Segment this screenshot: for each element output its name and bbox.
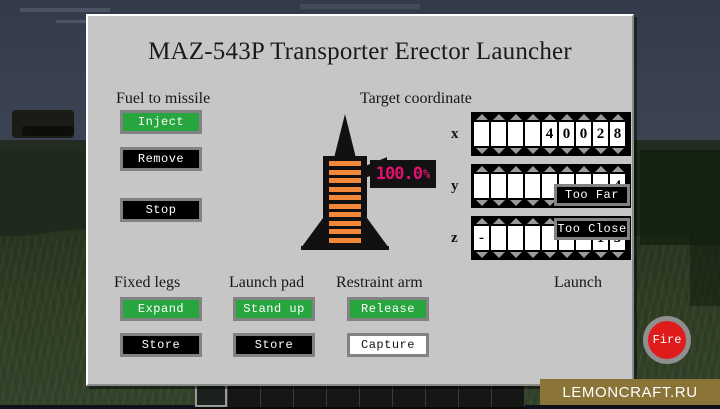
coordinate-cell[interactable] bbox=[524, 114, 541, 154]
increment-arrow-up-icon[interactable] bbox=[527, 166, 539, 172]
increment-arrow-up-icon[interactable] bbox=[595, 114, 607, 120]
hotbar-slot[interactable] bbox=[195, 384, 228, 407]
launch-pad-section-label: Launch pad bbox=[229, 274, 304, 292]
tree-silhouette bbox=[690, 236, 720, 306]
coordinate-cell[interactable] bbox=[507, 166, 524, 206]
increment-arrow-up-icon[interactable] bbox=[578, 114, 590, 120]
fuel-percent-readout: 100.0 % bbox=[370, 160, 436, 188]
axis-label-z: z bbox=[451, 230, 458, 247]
fuel-bar bbox=[329, 229, 361, 234]
increment-arrow-up-icon[interactable] bbox=[476, 166, 488, 172]
increment-arrow-up-icon[interactable] bbox=[510, 114, 522, 120]
decrement-arrow-down-icon[interactable] bbox=[561, 148, 573, 154]
missile-fin-right bbox=[367, 218, 389, 248]
coordinate-digit[interactable]: - bbox=[474, 226, 489, 250]
hotbar-slot[interactable] bbox=[261, 384, 294, 407]
fuel-bar bbox=[329, 187, 361, 192]
hotbar-slot[interactable] bbox=[393, 384, 426, 407]
legs-store-button[interactable]: Store bbox=[120, 333, 202, 357]
fuel-percent-value: 100.0 bbox=[376, 164, 422, 184]
coordinate-digit[interactable]: 8 bbox=[610, 122, 625, 146]
too-far-button[interactable]: Too Far bbox=[554, 184, 630, 206]
increment-arrow-up-icon[interactable] bbox=[612, 166, 624, 172]
decrement-arrow-down-icon[interactable] bbox=[595, 252, 607, 258]
hotbar-slot[interactable] bbox=[360, 384, 393, 407]
decrement-arrow-down-icon[interactable] bbox=[544, 148, 556, 154]
fixed-legs-section-label: Fixed legs bbox=[114, 274, 180, 292]
coordinate-digit[interactable] bbox=[525, 174, 540, 198]
coordinate-cell[interactable] bbox=[473, 114, 490, 154]
launch-section-label: Launch bbox=[554, 274, 602, 292]
decrement-arrow-down-icon[interactable] bbox=[527, 148, 539, 154]
increment-arrow-up-icon[interactable] bbox=[527, 114, 539, 120]
remove-fuel-button[interactable]: Remove bbox=[120, 147, 202, 171]
tree-silhouette bbox=[640, 150, 720, 245]
fuel-bar bbox=[329, 238, 361, 243]
cloud bbox=[300, 4, 420, 9]
launcher-control-panel: MAZ-543P Transporter Erector Launcher Fu… bbox=[86, 14, 634, 386]
coordinate-cell[interactable] bbox=[507, 114, 524, 154]
fuel-section-label: Fuel to missile bbox=[116, 90, 210, 108]
increment-arrow-up-icon[interactable] bbox=[561, 166, 573, 172]
hotbar-slot[interactable] bbox=[327, 384, 360, 407]
coordinate-cell[interactable]: 8 bbox=[609, 114, 626, 154]
coordinate-digit[interactable] bbox=[525, 226, 540, 250]
fire-button[interactable]: Fire bbox=[643, 316, 691, 364]
coordinate-digit[interactable] bbox=[525, 122, 540, 146]
dark-structure-shadow bbox=[22, 126, 74, 136]
too-close-button[interactable]: Too Close bbox=[554, 218, 630, 240]
missile-base bbox=[301, 246, 389, 250]
increment-arrow-up-icon[interactable] bbox=[578, 166, 590, 172]
hotbar-slot[interactable] bbox=[294, 384, 327, 407]
coordinate-digit[interactable] bbox=[491, 226, 506, 250]
hotbar-slot[interactable] bbox=[492, 384, 525, 407]
fuel-bar bbox=[329, 178, 361, 183]
axis-label-y: y bbox=[451, 178, 459, 195]
percent-symbol: % bbox=[423, 167, 430, 181]
coordinate-cell[interactable] bbox=[490, 166, 507, 206]
coordinate-cell[interactable]: 0 bbox=[575, 114, 592, 154]
arm-release-button[interactable]: Release bbox=[347, 297, 429, 321]
coordinate-cell[interactable]: 2 bbox=[592, 114, 609, 154]
hotbar-slot[interactable] bbox=[459, 384, 492, 407]
decrement-arrow-down-icon[interactable] bbox=[476, 200, 488, 206]
legs-expand-button[interactable]: Expand bbox=[120, 297, 202, 321]
decrement-arrow-down-icon[interactable] bbox=[476, 252, 488, 258]
coordinate-cell[interactable] bbox=[473, 166, 490, 206]
hotbar-slot[interactable] bbox=[426, 384, 459, 407]
decrement-arrow-down-icon[interactable] bbox=[510, 252, 522, 258]
site-watermark: LEMONCRAFT.RU bbox=[540, 379, 720, 405]
decrement-arrow-down-icon[interactable] bbox=[510, 148, 522, 154]
coordinate-cell[interactable] bbox=[524, 166, 541, 206]
page-title: MAZ-543P Transporter Erector Launcher bbox=[88, 38, 632, 66]
coordinate-cell[interactable]: - bbox=[473, 218, 490, 258]
arm-capture-button[interactable]: Capture bbox=[347, 333, 429, 357]
increment-arrow-up-icon[interactable] bbox=[612, 114, 624, 120]
fuel-bar bbox=[329, 195, 361, 200]
increment-arrow-up-icon[interactable] bbox=[544, 166, 556, 172]
axis-label-x: x bbox=[451, 126, 459, 143]
coordinate-cell[interactable] bbox=[507, 218, 524, 258]
increment-arrow-up-icon[interactable] bbox=[510, 166, 522, 172]
coordinate-digit[interactable]: 0 bbox=[576, 122, 591, 146]
fuel-level-bars bbox=[329, 161, 361, 243]
coordinate-digit[interactable]: 4 bbox=[542, 122, 557, 146]
stop-fuel-button[interactable]: Stop bbox=[120, 198, 202, 222]
increment-arrow-up-icon[interactable] bbox=[493, 218, 505, 224]
coordinate-digit[interactable] bbox=[508, 122, 523, 146]
decrement-arrow-down-icon[interactable] bbox=[527, 200, 539, 206]
missile-body bbox=[323, 156, 367, 248]
cloud bbox=[20, 8, 110, 12]
coordinate-row-x: 40028 bbox=[471, 112, 631, 156]
missile-fin-left bbox=[301, 218, 323, 248]
decrement-arrow-down-icon[interactable] bbox=[595, 148, 607, 154]
missile-nose-cone bbox=[334, 114, 356, 158]
increment-arrow-up-icon[interactable] bbox=[527, 218, 539, 224]
decrement-arrow-down-icon[interactable] bbox=[493, 252, 505, 258]
fuel-bar bbox=[329, 221, 361, 226]
coordinate-digit[interactable] bbox=[474, 174, 489, 198]
coordinate-digit[interactable] bbox=[491, 122, 506, 146]
increment-arrow-up-icon[interactable] bbox=[544, 114, 556, 120]
increment-arrow-up-icon[interactable] bbox=[476, 114, 488, 120]
fuel-bar bbox=[329, 204, 361, 209]
fuel-bar bbox=[329, 161, 361, 166]
decrement-arrow-down-icon[interactable] bbox=[612, 252, 624, 258]
fuel-bar bbox=[329, 212, 361, 217]
decrement-arrow-down-icon[interactable] bbox=[578, 252, 590, 258]
increment-arrow-up-icon[interactable] bbox=[510, 218, 522, 224]
restraint-arm-section-label: Restraint arm bbox=[336, 274, 423, 292]
coordinate-cell[interactable] bbox=[490, 218, 507, 258]
coordinate-digit[interactable] bbox=[474, 122, 489, 146]
increment-arrow-up-icon[interactable] bbox=[595, 166, 607, 172]
increment-arrow-up-icon[interactable] bbox=[476, 218, 488, 224]
decrement-arrow-down-icon[interactable] bbox=[476, 148, 488, 154]
coordinate-digit[interactable] bbox=[508, 174, 523, 198]
decrement-arrow-down-icon[interactable] bbox=[561, 252, 573, 258]
coordinate-cell[interactable]: 0 bbox=[558, 114, 575, 154]
decrement-arrow-down-icon[interactable] bbox=[578, 148, 590, 154]
coordinate-cell[interactable]: 4 bbox=[541, 114, 558, 154]
increment-arrow-up-icon[interactable] bbox=[493, 114, 505, 120]
pad-stand-up-button[interactable]: Stand up bbox=[233, 297, 315, 321]
coordinate-cell[interactable] bbox=[524, 218, 541, 258]
pad-store-button[interactable]: Store bbox=[233, 333, 315, 357]
decrement-arrow-down-icon[interactable] bbox=[493, 148, 505, 154]
hotbar-slot[interactable] bbox=[228, 384, 261, 407]
decrement-arrow-down-icon[interactable] bbox=[527, 252, 539, 258]
coordinate-cell[interactable] bbox=[490, 114, 507, 154]
fuel-bar bbox=[329, 170, 361, 175]
increment-arrow-up-icon[interactable] bbox=[493, 166, 505, 172]
coordinate-digit[interactable] bbox=[508, 226, 523, 250]
increment-arrow-up-icon[interactable] bbox=[561, 114, 573, 120]
coordinate-digit[interactable]: 0 bbox=[559, 122, 574, 146]
coordinate-digit[interactable] bbox=[491, 174, 506, 198]
inject-fuel-button[interactable]: Inject bbox=[120, 110, 202, 134]
decrement-arrow-down-icon[interactable] bbox=[544, 252, 556, 258]
decrement-arrow-down-icon[interactable] bbox=[510, 200, 522, 206]
coordinate-digit[interactable]: 2 bbox=[593, 122, 608, 146]
target-section-label: Target coordinate bbox=[360, 90, 472, 108]
decrement-arrow-down-icon[interactable] bbox=[493, 200, 505, 206]
decrement-arrow-down-icon[interactable] bbox=[612, 148, 624, 154]
